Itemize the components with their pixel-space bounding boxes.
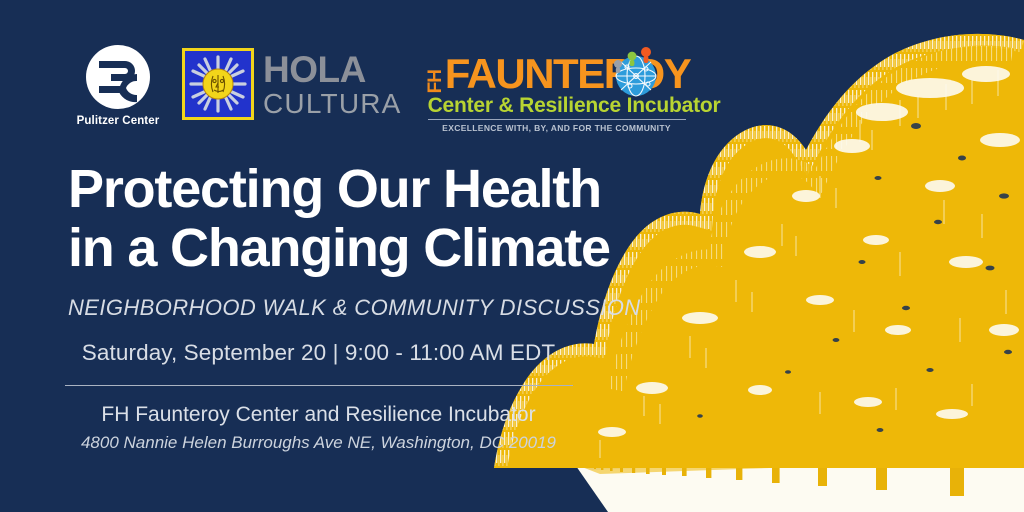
hola-cultura-wordmark: HOLA CULTURA xyxy=(263,51,402,118)
partner-logo-row: Pulitzer Center xyxy=(66,44,721,144)
tree-branch-stubs xyxy=(724,326,996,410)
pulitzer-pc-monogram-icon xyxy=(85,44,151,110)
fauntroy-tagline: EXCELLENCE WITH, BY, AND FOR THE COMMUNI… xyxy=(428,123,686,133)
event-banner: Pulitzer Center xyxy=(0,0,1024,512)
hola-cultura-sun-icon xyxy=(182,48,254,120)
hola-line-2: CULTURA xyxy=(263,90,402,118)
fauntroy-wordmark-row: FH FAUNTEROY xyxy=(428,48,721,94)
fauntroy-fh-prefix: FH xyxy=(428,70,444,93)
logo-hola-cultura[interactable]: HOLA CULTURA xyxy=(182,48,402,120)
fauntroy-globe-icon xyxy=(608,43,664,99)
fauntroy-subtitle: Center & Resilience Incubator xyxy=(428,95,721,116)
event-venue: FH Faunteroy Center and Resilience Incub… xyxy=(52,403,585,427)
details-divider xyxy=(65,385,573,386)
pulitzer-center-label: Pulitzer Center xyxy=(77,115,160,127)
event-details-block: Saturday, September 20 | 9:00 - 11:00 AM… xyxy=(52,340,585,453)
page-title-line-2: in a Changing Climate xyxy=(68,219,648,278)
hola-line-1: HOLA xyxy=(263,51,402,88)
logo-pulitzer-center[interactable]: Pulitzer Center xyxy=(66,44,170,127)
event-address: 4800 Nannie Helen Burroughs Ave NE, Wash… xyxy=(52,433,585,453)
distant-tree-trunks xyxy=(594,338,964,496)
logo-fauntroy-center[interactable]: FH FAUNTEROY xyxy=(428,48,721,133)
headline-block: Protecting Our Health in a Changing Clim… xyxy=(68,160,648,321)
event-subtitle: NEIGHBORHOOD WALK & COMMUNITY DISCUSSION xyxy=(68,295,648,321)
fauntroy-divider xyxy=(428,119,686,120)
event-datetime: Saturday, September 20 | 9:00 - 11:00 AM… xyxy=(52,340,585,366)
sidewalk-ground-strip xyxy=(576,446,1024,512)
page-title-line-1: Protecting Our Health xyxy=(68,160,648,219)
